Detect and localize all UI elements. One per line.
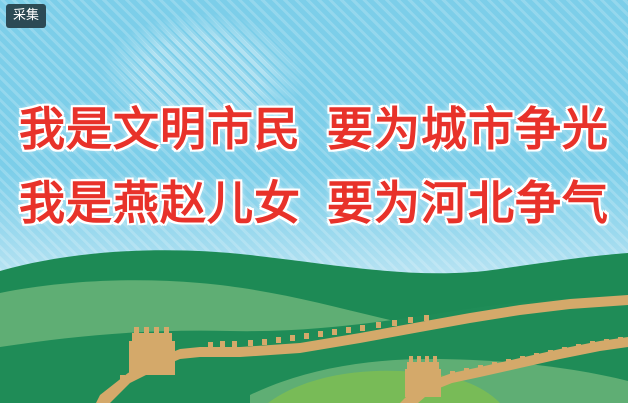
poster-image: 我是文明市民要为城市争光 我是燕赵儿女要为河北争气 采集 bbox=[0, 0, 628, 403]
slogan-line-1: 我是文明市民要为城市争光 bbox=[0, 92, 628, 166]
great-wall-left-watchtower bbox=[129, 327, 175, 375]
slogan-line-2: 我是燕赵儿女要为河北争气 bbox=[0, 166, 628, 240]
capture-button[interactable]: 采集 bbox=[6, 4, 46, 28]
slogan-line-1-left: 我是文明市民 bbox=[19, 102, 301, 156]
slogan-headline: 我是文明市民要为城市争光 我是燕赵儿女要为河北争气 bbox=[0, 92, 628, 240]
slogan-line-1-right: 要为城市争光 bbox=[327, 102, 609, 156]
slogan-line-2-left: 我是燕赵儿女 bbox=[19, 176, 301, 230]
hills-scenery bbox=[0, 243, 628, 403]
great-wall-right-watchtower bbox=[405, 356, 441, 397]
slogan-line-2-right: 要为河北争气 bbox=[327, 176, 609, 230]
